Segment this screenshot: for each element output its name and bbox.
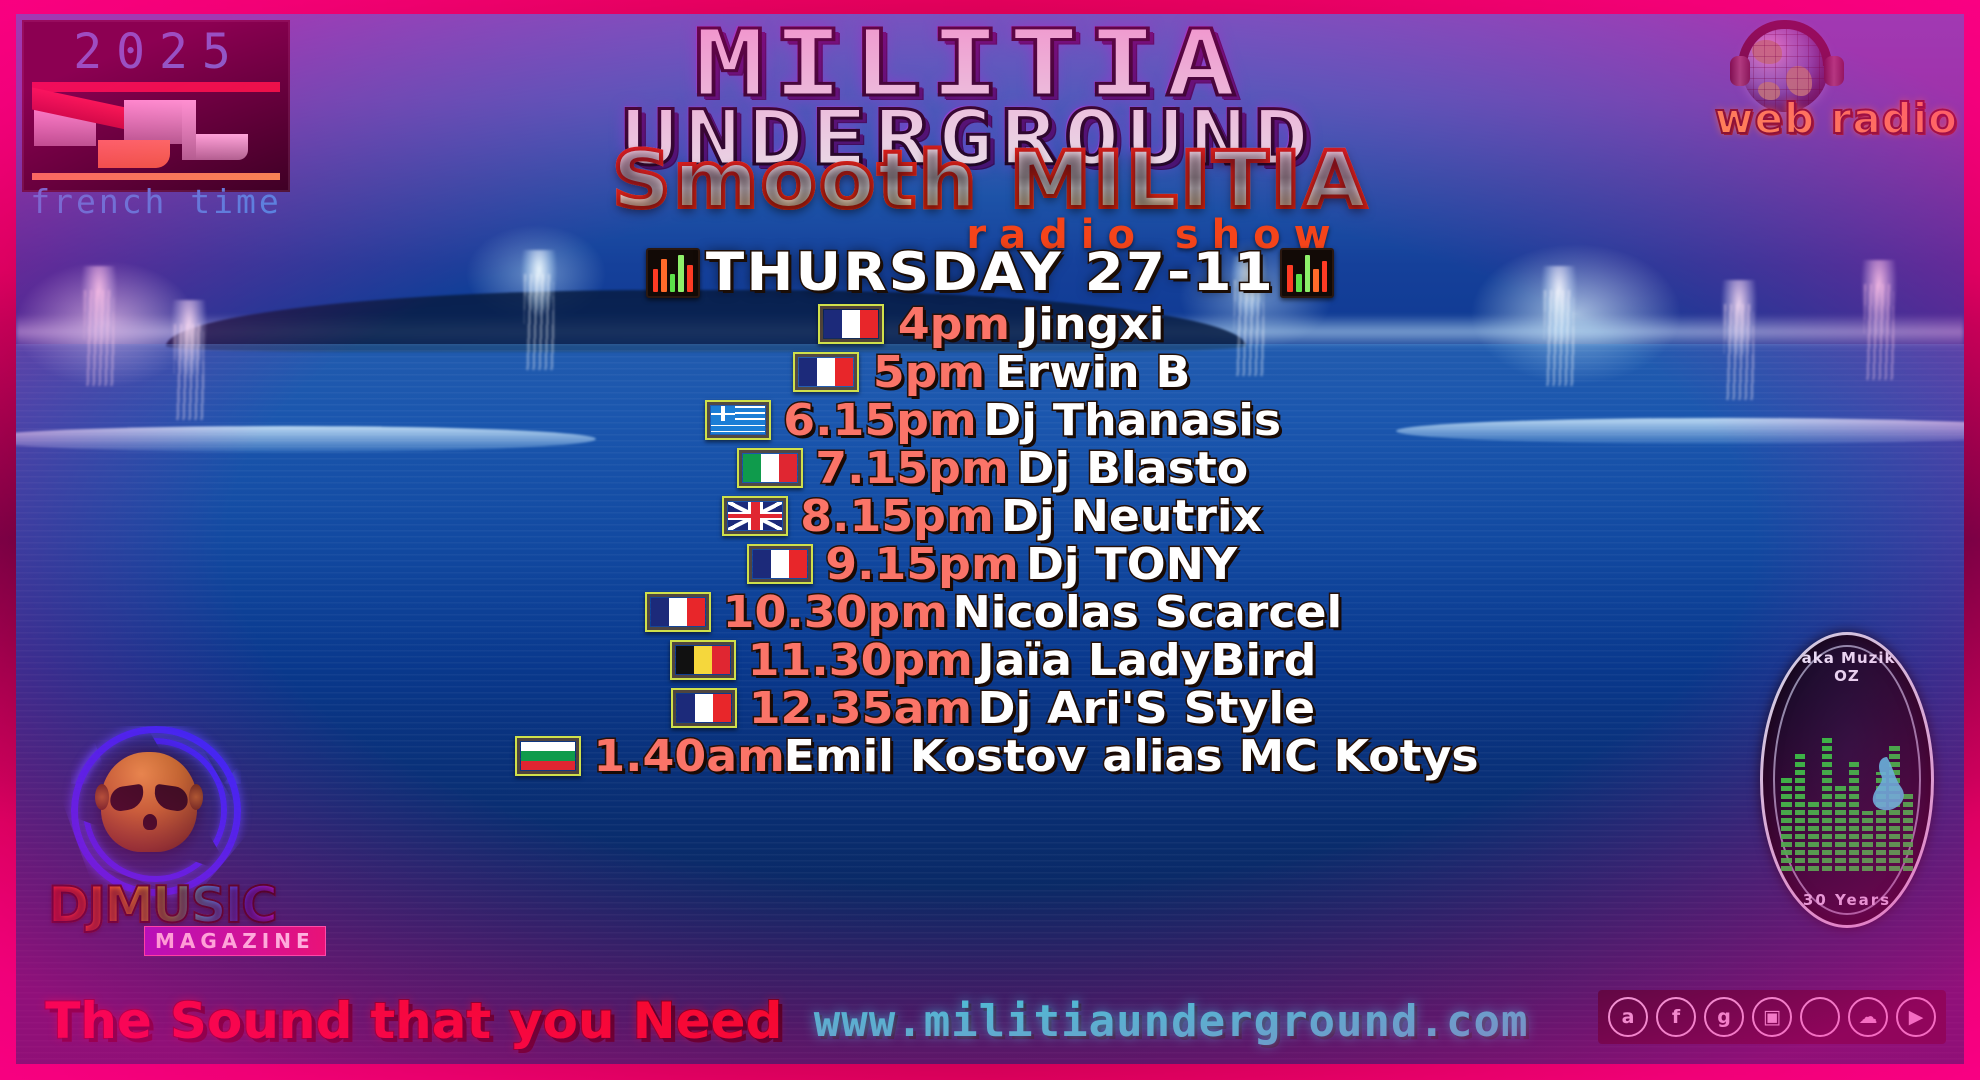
lineup-artist: Jaïa LadyBird: [978, 635, 1317, 686]
lineup-artist: Jingxi: [1021, 299, 1164, 350]
swan-icon: [1863, 753, 1909, 815]
facebook-icon[interactable]: f: [1656, 997, 1696, 1037]
footer-website-link[interactable]: www.militiaunderground.com: [814, 996, 1529, 1047]
lineup-time: 11.30pm: [747, 635, 972, 686]
skull-head: [101, 752, 197, 852]
broadcast-date-text: THURSDAY 27-11: [705, 242, 1274, 303]
radio-show-flyer: 2025 french time MILITIA UNDERGROUND: [0, 0, 1980, 1080]
lineup-list: 4pmJingxi5pmErwin B6.15pmDj Thanasis7.15…: [16, 300, 1964, 780]
djmusic-magazine-logo: DJMUSIC MAGAZINE: [48, 876, 326, 956]
lineup-artist: Dj TONY: [1026, 539, 1237, 590]
lineup-artist: Dj Blasto: [1016, 443, 1248, 494]
belgium-flag: [670, 640, 736, 680]
lineup-time: 7.15pm: [815, 443, 1008, 494]
lineup-artist: Dj Thanasis: [983, 395, 1281, 446]
lineup-row: 5pmErwin B: [16, 348, 1964, 396]
amazon-icon[interactable]: a: [1608, 997, 1648, 1037]
lineup-row: 9.15pmDj TONY: [16, 540, 1964, 588]
france-flag: [818, 304, 884, 344]
lineup-artist: Dj Ari'S Style: [978, 683, 1316, 734]
lineup-artist: Nicolas Scarcel: [952, 587, 1342, 638]
magazine-label: MAGAZINE: [144, 926, 326, 956]
lineup-time: 9.15pm: [825, 539, 1018, 590]
france-flag: [793, 352, 859, 392]
france-flag: [747, 544, 813, 584]
greece-flag: [705, 400, 771, 440]
lineup-row: 4pmJingxi: [16, 300, 1964, 348]
lineup-artist: Dj Neutrix: [1001, 491, 1262, 542]
bulgaria-flag: [515, 736, 581, 776]
soundcloud-icon[interactable]: ☁: [1848, 997, 1888, 1037]
italy-flag: [737, 448, 803, 488]
lineup-row: 12.35amDj Ari'S Style: [16, 684, 1964, 732]
lineup-time: 12.35am: [749, 683, 972, 734]
oz-badge-top-text: OZ aka Muzik by OZ: [1763, 649, 1931, 685]
lineup-row: 6.15pmDj Thanasis: [16, 396, 1964, 444]
lineup-row: 7.15pmDj Blasto: [16, 444, 1964, 492]
lineup-time: 1.40am: [593, 731, 784, 782]
equalizer-icon: [646, 248, 700, 298]
footer-tagline: The Sound that you Need: [45, 992, 782, 1050]
france-flag: [645, 592, 711, 632]
social-links[interactable]: afg▣☁▶: [1598, 990, 1946, 1044]
artwork-panel: 2025 french time MILITIA UNDERGROUND: [16, 14, 1964, 1064]
lineup-time: 10.30pm: [723, 587, 948, 638]
googleplus-icon[interactable]: g: [1704, 997, 1744, 1037]
lineup-row: 8.15pmDj Neutrix: [16, 492, 1964, 540]
lineup-artist: Emil Kostov alias MC Kotys: [784, 731, 1479, 782]
lineup-time: 8.15pm: [801, 491, 994, 542]
headphone-band-icon: [1738, 20, 1832, 66]
broadcast-date-row: THURSDAY 27-11: [16, 242, 1964, 303]
oz-muzik-badge: OZ aka Muzik by OZ 30 Years: [1760, 632, 1934, 928]
unitedkingdom-flag: [722, 496, 788, 536]
france-flag: [671, 688, 737, 728]
oz-badge-bottom-text: 30 Years: [1763, 891, 1931, 909]
dj-skull-icon: [71, 726, 241, 886]
youtube-icon[interactable]: ▶: [1896, 997, 1936, 1037]
headphone-cup-left-icon: [1730, 56, 1750, 86]
lineup-time: 4pm: [898, 299, 1010, 350]
lineup-row: 10.30pmNicolas Scarcel: [16, 588, 1964, 636]
lineup-time: 5pm: [873, 347, 985, 398]
instagram-icon[interactable]: ▣: [1752, 997, 1792, 1037]
web-radio-label: web radio: [1715, 94, 1958, 143]
equalizer-icon: [1280, 248, 1334, 298]
lineup-time: 6.15pm: [783, 395, 976, 446]
apple-icon[interactable]: [1800, 997, 1840, 1037]
lineup-artist: Erwin B: [995, 347, 1190, 398]
lineup-row: 11.30pmJaïa LadyBird: [16, 636, 1964, 684]
lineup-row: 1.40amEmil Kostov alias MC Kotys: [16, 732, 1964, 780]
footer-bar: The Sound that you Need www.militiaunder…: [16, 986, 1964, 1056]
headphone-cup-right-icon: [1824, 56, 1844, 86]
